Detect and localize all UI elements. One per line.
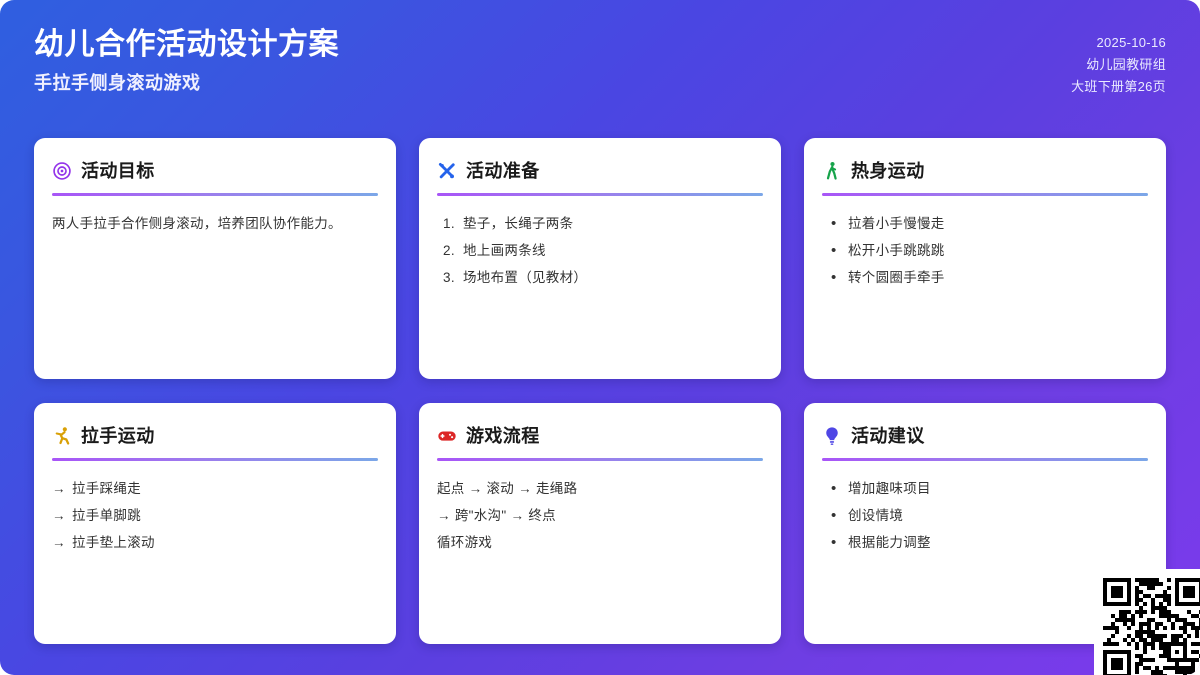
list-item: 拉手单脚跳 [52, 502, 378, 529]
flow-line: 起点 → 滚动 → 走绳路 [437, 475, 763, 502]
card-accent-rule [52, 458, 378, 461]
card-body: 增加趣味项目创设情境根据能力调整 [822, 475, 1148, 556]
card-header: 活动准备 [437, 158, 763, 184]
card-body: 拉着小手慢慢走松开小手跳跳跳转个圆圈手牵手 [822, 210, 1148, 291]
flow-line: → 跨"水沟" → 终点 [437, 502, 763, 529]
card-body: 两人手拉手合作侧身滚动，培养团队协作能力。 [52, 210, 378, 237]
card-body: 起点 → 滚动 → 走绳路→ 跨"水沟" → 终点循环游戏 [437, 475, 763, 556]
card-header: 游戏流程 [437, 423, 763, 449]
list-item: 拉着小手慢慢走 [822, 210, 1148, 237]
qr-code[interactable] [1103, 578, 1200, 675]
card-accent-rule [437, 193, 763, 196]
card-hand-holding: 拉手运动拉手踩绳走拉手单脚跳拉手垫上滚动 [34, 403, 396, 644]
meta-date: 2025-10-16 [1097, 32, 1167, 54]
card-goal: 活动目标两人手拉手合作侧身滚动，培养团队协作能力。 [34, 138, 396, 379]
card-body: 垫子，长绳子两条地上画两条线场地布置（见教材） [437, 210, 763, 291]
list-item: 松开小手跳跳跳 [822, 237, 1148, 264]
list-item: 根据能力调整 [822, 529, 1148, 556]
card-header: 热身运动 [822, 158, 1148, 184]
header-meta-block: 2025-10-16 幼儿园教研组 大班下册第26页 [1071, 24, 1166, 98]
card-title: 活动准备 [466, 158, 540, 184]
target-icon [52, 161, 72, 181]
list-item: 地上画两条线 [437, 237, 763, 264]
card-game-flow: 游戏流程起点 → 滚动 → 走绳路→ 跨"水沟" → 终点循环游戏 [419, 403, 781, 644]
lightbulb-icon [822, 426, 842, 446]
list-item: 增加趣味项目 [822, 475, 1148, 502]
list-item: 转个圆圈手牵手 [822, 264, 1148, 291]
list-item: 创设情境 [822, 502, 1148, 529]
flow-line: 循环游戏 [437, 529, 763, 556]
list-item: 垫子，长绳子两条 [437, 210, 763, 237]
card-accent-rule [822, 458, 1148, 461]
card-grid: 活动目标两人手拉手合作侧身滚动，培养团队协作能力。活动准备垫子，长绳子两条地上画… [34, 138, 1166, 644]
card-title: 活动建议 [851, 423, 925, 449]
meta-source: 大班下册第26页 [1071, 76, 1166, 98]
slide-canvas: 幼儿合作活动设计方案 手拉手侧身滚动游戏 2025-10-16 幼儿园教研组 大… [0, 0, 1200, 675]
card-accent-rule [52, 193, 378, 196]
card-accent-rule [437, 458, 763, 461]
gamepad-icon [437, 426, 457, 446]
card-accent-rule [822, 193, 1148, 196]
page-title: 幼儿合作活动设计方案 [34, 24, 339, 66]
running-person-icon [52, 426, 72, 446]
list-item: 拉手垫上滚动 [52, 529, 378, 556]
card-title: 游戏流程 [466, 423, 540, 449]
list-item: 场地布置（见教材） [437, 264, 763, 291]
card-header: 拉手运动 [52, 423, 378, 449]
card-preparation: 活动准备垫子，长绳子两条地上画两条线场地布置（见教材） [419, 138, 781, 379]
card-paragraph: 两人手拉手合作侧身滚动，培养团队协作能力。 [52, 210, 378, 237]
card-header: 活动目标 [52, 158, 378, 184]
qr-code-panel[interactable] [1094, 569, 1200, 675]
slide-header: 幼儿合作活动设计方案 手拉手侧身滚动游戏 2025-10-16 幼儿园教研组 大… [0, 0, 1200, 122]
page-subtitle: 手拉手侧身滚动游戏 [34, 68, 339, 98]
walking-person-icon [822, 161, 842, 181]
card-title: 热身运动 [851, 158, 925, 184]
card-title: 活动目标 [81, 158, 155, 184]
header-title-block: 幼儿合作活动设计方案 手拉手侧身滚动游戏 [34, 24, 339, 98]
card-warmup: 热身运动拉着小手慢慢走松开小手跳跳跳转个圆圈手牵手 [804, 138, 1166, 379]
list-item: 拉手踩绳走 [52, 475, 378, 502]
card-header: 活动建议 [822, 423, 1148, 449]
card-body: 拉手踩绳走拉手单脚跳拉手垫上滚动 [52, 475, 378, 556]
card-title: 拉手运动 [81, 423, 155, 449]
meta-organization: 幼儿园教研组 [1086, 54, 1166, 76]
tools-icon [437, 161, 457, 181]
